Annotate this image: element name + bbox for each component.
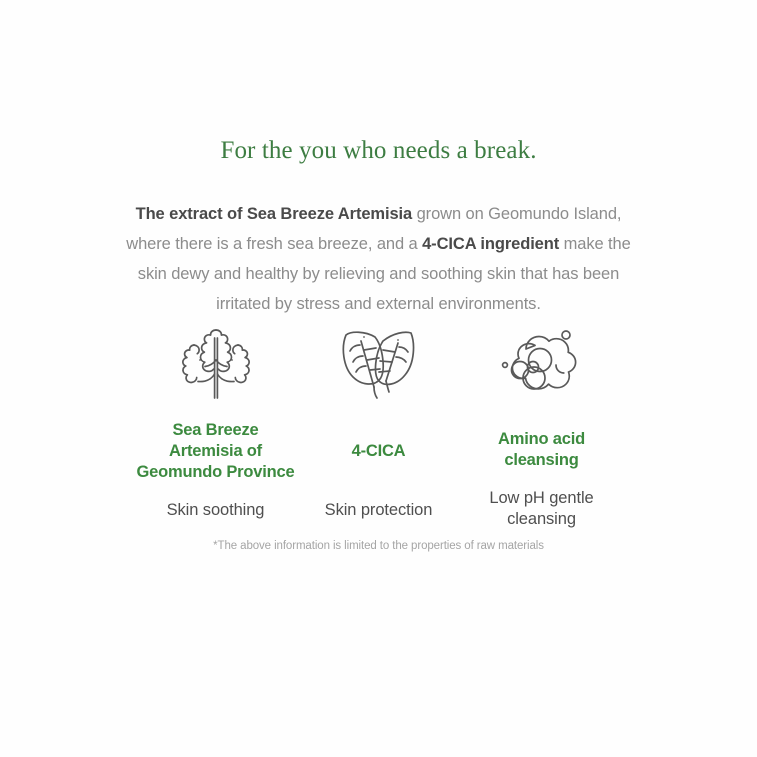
intro-paragraph: The extract of Sea Breeze Artemisia grow… [124,199,634,319]
infographic-page: For the you who needs a break. The extra… [0,0,757,757]
feature-title-cica: 4-CICA [352,441,406,462]
feature-title-artemisia: Sea Breeze Artemisia of Geomundo Provinc… [137,420,295,483]
feature-title-amino: Amino acid cleansing [498,429,585,471]
feature-desc-amino: Low pH gentle cleansing [489,488,593,530]
intro-bold-artemisia: The extract of Sea Breeze Artemisia [136,205,413,223]
footnote-text: *The above information is limited to the… [0,538,757,554]
feature-list: Sea Breeze Artemisia of Geomundo Provinc… [0,322,757,530]
feature-desc-artemisia: Skin soothing [167,500,265,521]
feature-desc-cica: Skin protection [325,500,433,521]
foam-bubbles-icon [496,322,588,406]
feature-item-amino: Amino acid cleansing Low pH gentle clean… [460,322,623,530]
artemisia-leaf-cluster-icon [170,322,262,406]
feature-item-cica: 4-CICA Skin protection [297,322,460,521]
page-title: For the you who needs a break. [0,136,757,166]
intro-bold-cica: 4-CICA ingredient [422,235,559,253]
feature-item-artemisia: Sea Breeze Artemisia of Geomundo Provinc… [134,322,297,521]
double-leaf-icon [335,322,423,406]
